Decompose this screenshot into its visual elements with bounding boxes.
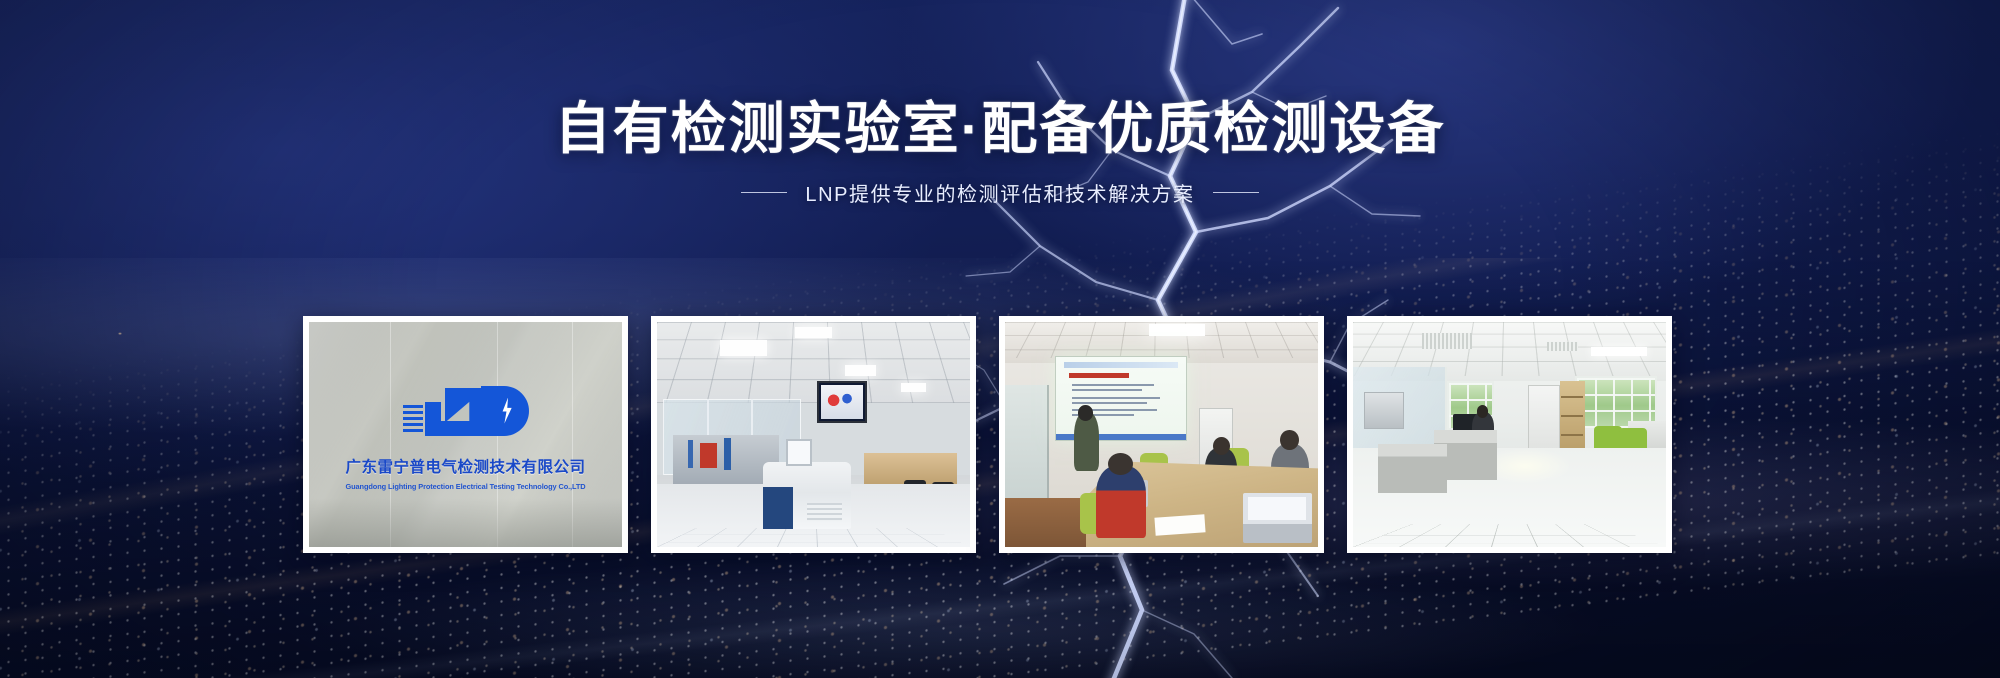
hero-text-block: 自有检测实验室·配备优质检测设备 LNP提供专业的检测评估和技术解决方案	[0, 96, 2000, 207]
laptop-computer	[1243, 493, 1312, 543]
office-desk	[1378, 444, 1447, 494]
rule-left-icon	[741, 192, 787, 193]
hero-subtitle: LNP提供专业的检测评估和技术解决方案	[805, 178, 1194, 207]
seated-person-red-jacket	[1096, 466, 1146, 538]
wall-display-screen	[817, 381, 867, 424]
company-name-cn: 广东雷宁普电气检测技术有限公司	[309, 455, 622, 477]
ceiling-light	[1591, 347, 1647, 356]
ceiling-vent	[1422, 333, 1472, 349]
gallery-card-meeting-room-training[interactable]	[999, 316, 1324, 553]
logo-bars-icon	[403, 405, 423, 432]
lab-equipment	[1364, 392, 1404, 430]
presenter-head	[1078, 405, 1094, 421]
photo-testing-laboratory	[657, 322, 970, 547]
gallery-card-testing-laboratory[interactable]	[651, 316, 976, 553]
rule-right-icon	[1213, 192, 1259, 193]
ceiling-light	[845, 365, 876, 376]
lnp-mark-icon	[425, 380, 529, 436]
ceiling-light	[720, 340, 767, 356]
lnp-logo-icon	[403, 380, 529, 436]
seated-person-head	[1108, 453, 1133, 476]
wooden-shelf	[1560, 381, 1585, 453]
photo-meeting-room-training	[1005, 322, 1318, 547]
hero-banner: 自有检测实验室·配备优质检测设备 LNP提供专业的检测评估和技术解决方案	[0, 0, 2000, 678]
office-worker-head	[1477, 405, 1488, 417]
attendee-head	[1213, 437, 1230, 455]
control-console	[763, 462, 851, 530]
photo-lnp-logo-signage: 广东雷宁普电气检测技术有限公司 Guangdong Lighting Prote…	[309, 322, 622, 547]
wood-floor	[1005, 498, 1086, 548]
ceiling-light	[901, 383, 926, 392]
floor-shadow	[309, 498, 622, 548]
ceiling-light	[1149, 324, 1205, 335]
paper-documents	[1155, 514, 1206, 535]
hero-subtitle-row: LNP提供专业的检测评估和技术解决方案	[0, 178, 2000, 207]
floor-standing-ac	[1528, 385, 1559, 457]
gallery-card-lnp-logo-signage[interactable]: 广东雷宁普电气检测技术有限公司 Guangdong Lighting Prote…	[303, 316, 628, 553]
photo-gallery: 广东雷宁普电气检测技术有限公司 Guangdong Lighting Prote…	[303, 316, 1672, 553]
meeting-door	[1005, 385, 1049, 502]
ceiling-light	[795, 327, 833, 338]
photo-office-workspace	[1353, 322, 1666, 547]
page-title: 自有检测实验室·配备优质检测设备	[0, 96, 2000, 162]
company-name-en: Guangdong Lighting Protection Electrical…	[309, 482, 622, 491]
gallery-card-office-workspace[interactable]	[1347, 316, 1672, 553]
ceiling-vent	[1547, 342, 1578, 351]
